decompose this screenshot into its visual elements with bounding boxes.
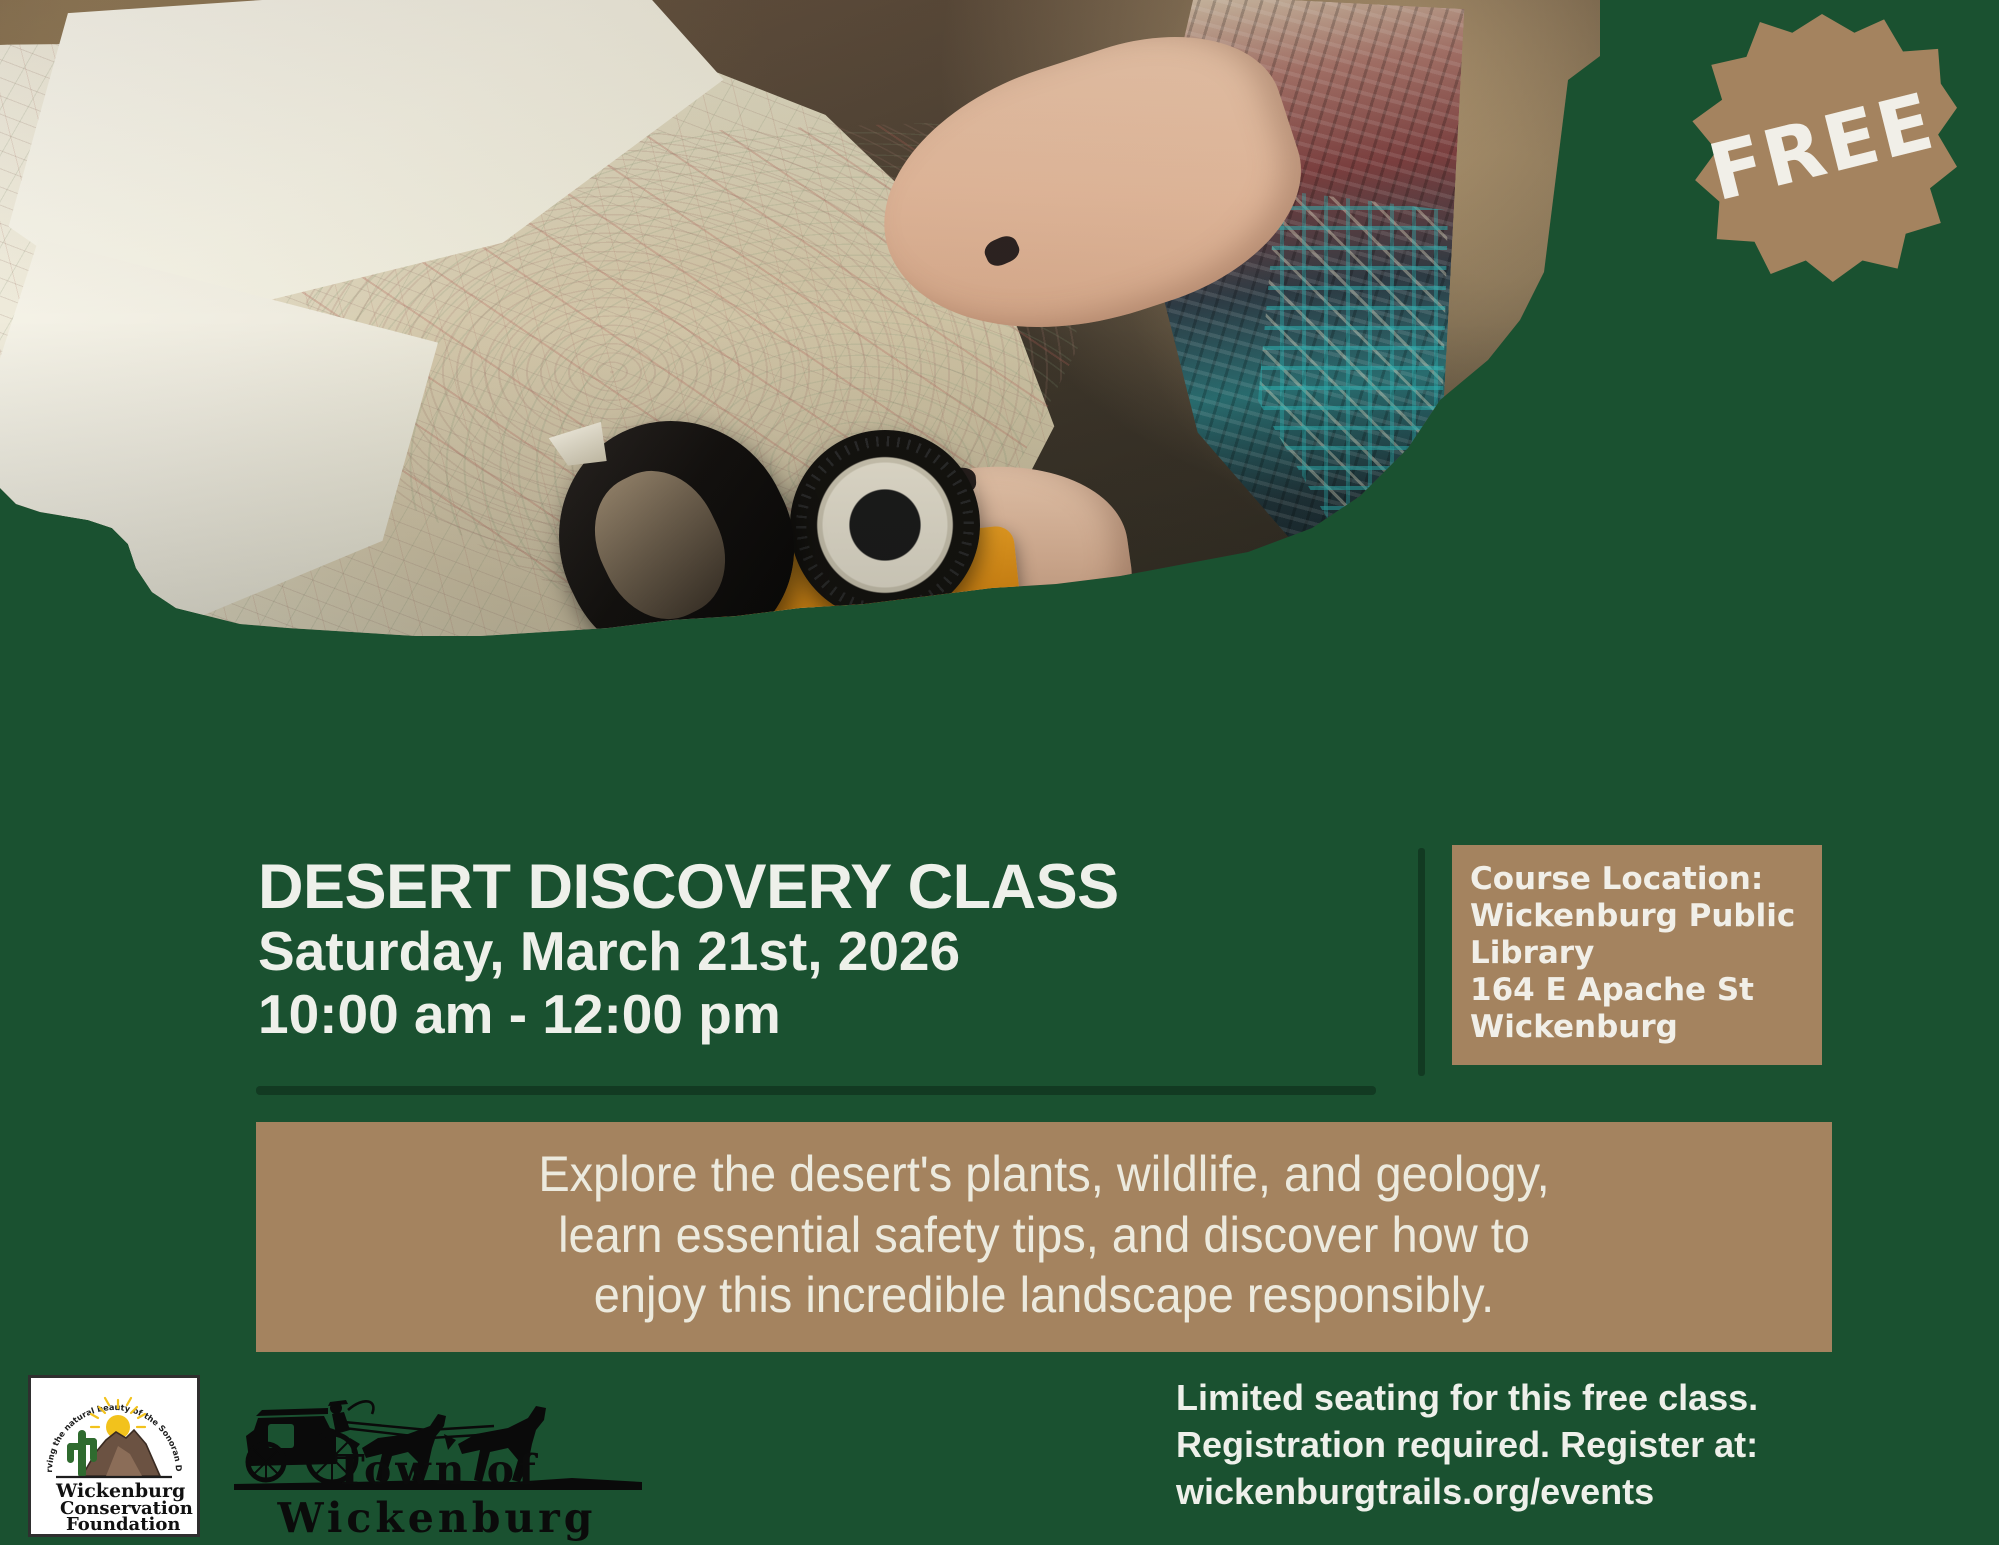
event-time: 10:00 am - 12:00 pm xyxy=(258,983,1158,1046)
wickenburg-conservation-foundation-logo: Preserving the natural beauty of the Son… xyxy=(28,1375,200,1537)
description-box: Explore the desert's plants, wildlife, a… xyxy=(256,1122,1832,1352)
description-line: learn essential safety tips, and discove… xyxy=(330,1205,1759,1266)
free-badge-label: FREE xyxy=(1659,0,1986,311)
location-line: Course Location: xyxy=(1470,861,1804,898)
description-line: enjoy this incredible landscape responsi… xyxy=(330,1265,1759,1326)
description-line: Explore the desert's plants, wildlife, a… xyxy=(330,1144,1759,1205)
poster-canvas: FREE DESERT DISCOVERY CLASS Saturday, Ma… xyxy=(0,0,1999,1545)
title-divider-rule xyxy=(256,1086,1376,1095)
hero-photo xyxy=(0,0,1600,800)
location-line: Library xyxy=(1470,935,1804,972)
free-badge: FREE xyxy=(1687,14,1957,282)
event-date: Saturday, March 21st, 2026 xyxy=(258,920,1158,983)
registration-block: Limited seating for this free class. Reg… xyxy=(1176,1375,1946,1515)
registration-url[interactable]: wickenburgtrails.org/events xyxy=(1176,1469,1946,1516)
registration-line: Registration required. Register at: xyxy=(1176,1422,1946,1469)
location-line: Wickenburg Public xyxy=(1470,898,1804,935)
town-of-wickenburg-label: Town of Wickenburg xyxy=(232,1446,642,1542)
location-divider xyxy=(1418,848,1425,1076)
wcf-logo-art: Preserving the natural beauty of the Son… xyxy=(34,1380,194,1532)
registration-line: Limited seating for this free class. xyxy=(1176,1375,1946,1422)
course-location-box: Course Location: Wickenburg Public Libra… xyxy=(1452,845,1822,1065)
location-line: Wickenburg xyxy=(1470,1009,1804,1046)
town-of-wickenburg-logo: Town of Wickenburg xyxy=(232,1392,642,1540)
page-title: DESERT DISCOVERY CLASS xyxy=(258,855,1158,920)
wcf-line-3: Foundation xyxy=(66,1514,180,1532)
location-line: 164 E Apache St xyxy=(1470,972,1804,1009)
title-block: DESERT DISCOVERY CLASS Saturday, March 2… xyxy=(258,855,1158,1045)
